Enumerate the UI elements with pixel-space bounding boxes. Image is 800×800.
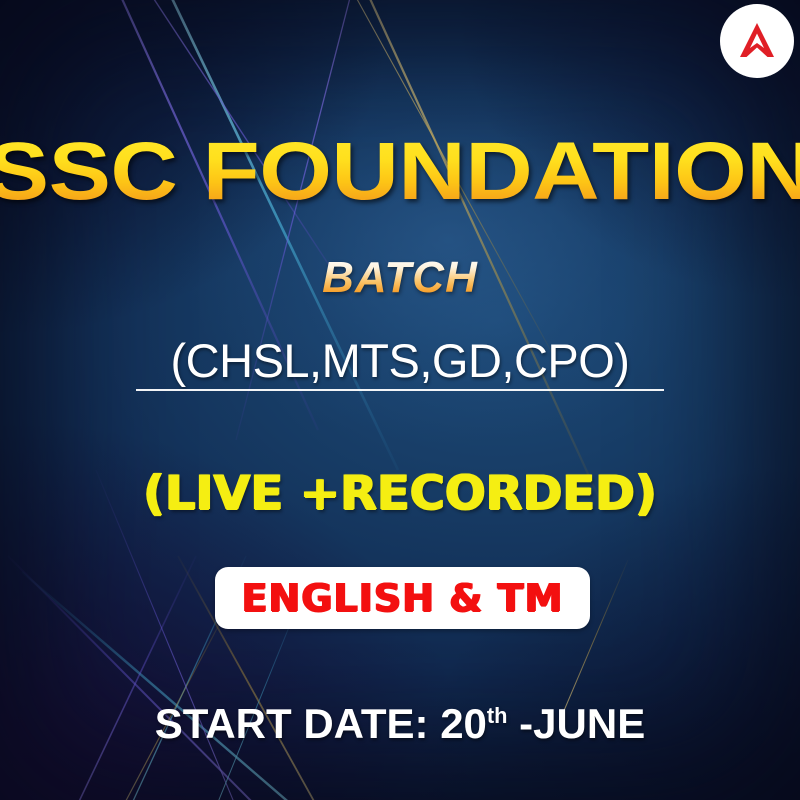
start-date-month: -JUNE xyxy=(508,700,646,747)
mode-live-recorded: (LIVE +RECORDED) xyxy=(0,470,800,517)
banner-content: SSC FOUNDATION BATCH (CHSL,MTS,GD,CPO) (… xyxy=(0,0,800,800)
exam-list-block: (CHSL,MTS,GD,CPO) xyxy=(0,336,800,391)
language-badge: ENGLISH & TM xyxy=(215,567,590,629)
exam-list: (CHSL,MTS,GD,CPO) xyxy=(171,336,630,385)
start-date-label: START DATE: 20 xyxy=(155,700,487,747)
exam-list-underline xyxy=(136,389,664,391)
start-date: START DATE: 20th -JUNE xyxy=(0,703,800,745)
subtitle-batch: BATCH xyxy=(0,256,800,300)
promo-banner: SSC FOUNDATION BATCH (CHSL,MTS,GD,CPO) (… xyxy=(0,0,800,800)
language-badge-label: ENGLISH & TM xyxy=(242,579,564,617)
start-date-ordinal: th xyxy=(487,703,508,728)
page-title: SSC FOUNDATION xyxy=(0,131,800,213)
